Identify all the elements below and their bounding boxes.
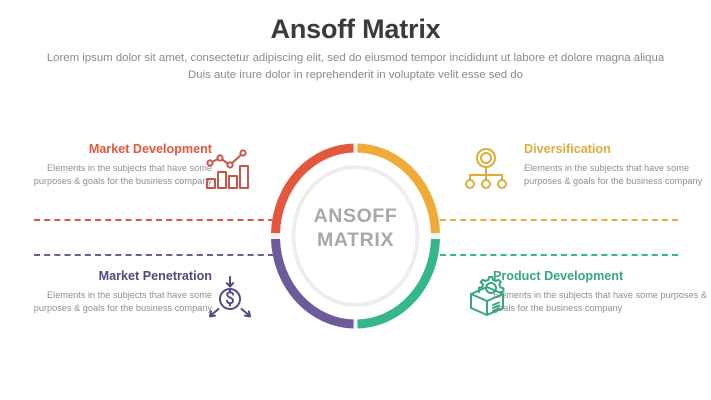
bar-chart-trend-icon: [203, 146, 251, 192]
dollar-arrows-icon: [207, 274, 253, 320]
quadrant-title-product-development: Product Development: [493, 269, 711, 284]
quadrant-product-development[interactable]: Product Development Elements in the subj…: [493, 269, 711, 314]
quadrant-body-market-penetration: Elements in the subjects that have some …: [22, 289, 212, 314]
ansoff-matrix-ring: ANSOFF MATRIX: [267, 140, 444, 332]
connector-market-penetration: [34, 254, 274, 256]
quadrant-title-diversification: Diversification: [524, 142, 711, 157]
quadrant-market-development[interactable]: Market Development Elements in the subje…: [22, 142, 212, 187]
ring-label-line2: MATRIX: [267, 228, 444, 252]
connector-product-development: [440, 254, 678, 256]
infographic-canvas: Ansoff Matrix Lorem ipsum dolor sit amet…: [0, 0, 711, 400]
quadrant-title-market-penetration: Market Penetration: [22, 269, 212, 284]
quadrant-body-product-development: Elements in the subjects that have some …: [493, 289, 711, 314]
box-gear-icon: [463, 274, 511, 322]
quadrant-body-diversification: Elements in the subjects that have some …: [524, 162, 711, 187]
ring-label-line1: ANSOFF: [267, 204, 444, 228]
page-subtitle: Lorem ipsum dolor sit amet, consectetur …: [45, 50, 666, 84]
quadrant-diversification[interactable]: Diversification Elements in the subjects…: [524, 142, 711, 187]
ring-center-label: ANSOFF MATRIX: [267, 204, 444, 252]
connector-diversification: [440, 219, 678, 221]
quadrant-market-penetration[interactable]: Market Penetration Elements in the subje…: [22, 269, 212, 314]
quadrant-title-market-development: Market Development: [22, 142, 212, 157]
connector-market-development: [34, 219, 274, 221]
org-hierarchy-icon: [464, 146, 508, 192]
page-title: Ansoff Matrix: [0, 14, 711, 45]
quadrant-body-market-development: Elements in the subjects that have some …: [22, 162, 212, 187]
